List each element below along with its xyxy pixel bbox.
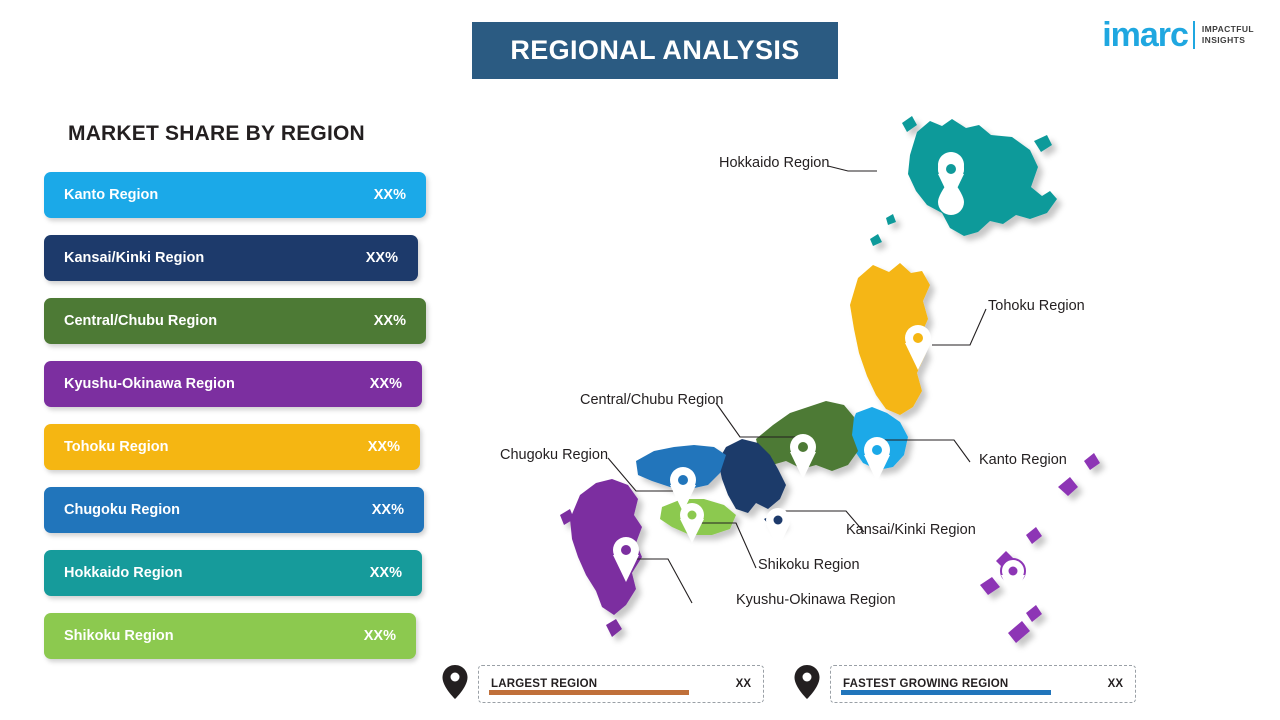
map-label-shikoku: Shikoku Region <box>758 557 860 573</box>
region-bar-value: XX% <box>368 439 400 455</box>
region-bar-tohoku[interactable]: Tohoku Region XX% <box>44 424 420 470</box>
region-bar-value: XX% <box>374 313 406 329</box>
list-item: Kanto Region XX% <box>44 172 426 218</box>
page-title: REGIONAL ANALYSIS <box>510 35 799 66</box>
map-region-hokkaido[interactable] <box>902 116 1057 236</box>
region-bar-label: Kyushu-Okinawa Region <box>64 376 235 392</box>
map-label-hokkaido: Hokkaido Region <box>719 155 829 171</box>
region-bar-label: Shikoku Region <box>64 628 174 644</box>
region-bar-label: Hokkaido Region <box>64 565 182 581</box>
slide-canvas: REGIONAL ANALYSIS imarc IMPACTFUL INSIGH… <box>0 0 1280 720</box>
fastest-region-pin-icon <box>794 665 820 699</box>
region-bar-label: Central/Chubu Region <box>64 313 217 329</box>
list-item: Central/Chubu Region XX% <box>44 298 426 344</box>
largest-region-value: XX <box>736 678 751 690</box>
pin-kansai[interactable] <box>766 508 790 549</box>
region-bar-value: XX% <box>372 502 404 518</box>
list-item: Chugoku Region XX% <box>44 487 426 533</box>
region-bar-value: XX% <box>370 376 402 392</box>
largest-region-box: LARGEST REGION XX <box>478 665 764 703</box>
region-bar-kanto[interactable]: Kanto Region XX% <box>44 172 426 218</box>
pin-kanto[interactable] <box>864 437 890 482</box>
region-bar-kyushu-okinawa[interactable]: Kyushu-Okinawa Region XX% <box>44 361 422 407</box>
pin-okinawa[interactable] <box>1001 559 1025 599</box>
list-item: Tohoku Region XX% <box>44 424 426 470</box>
market-share-bar-list: Kanto Region XX% Kansai/Kinki Region XX%… <box>44 172 426 676</box>
region-bar-label: Tohoku Region <box>64 439 168 455</box>
map-label-chugoku: Chugoku Region <box>500 447 608 463</box>
region-bar-chugoku[interactable]: Chugoku Region XX% <box>44 487 424 533</box>
region-bar-kansai[interactable]: Kansai/Kinki Region XX% <box>44 235 418 281</box>
largest-region-underline <box>489 690 689 695</box>
japan-map: Hokkaido Region Tohoku Region Kanto Regi… <box>430 95 1260 655</box>
fastest-region-underline <box>841 690 1051 695</box>
region-bar-label: Kansai/Kinki Region <box>64 250 204 266</box>
logo-tagline-line2: INSIGHTS <box>1202 35 1254 46</box>
list-item: Hokkaido Region XX% <box>44 550 426 596</box>
region-bar-shikoku[interactable]: Shikoku Region XX% <box>44 613 416 659</box>
region-bar-value: XX% <box>366 250 398 266</box>
region-bar-value: XX% <box>370 565 402 581</box>
fastest-region-box: FASTEST GROWING REGION XX <box>830 665 1136 703</box>
map-label-kansai: Kansai/Kinki Region <box>846 522 976 538</box>
region-bar-value: XX% <box>364 628 396 644</box>
map-island-hokkaido-small <box>870 214 896 246</box>
list-item: Shikoku Region XX% <box>44 613 426 659</box>
fastest-region-label: FASTEST GROWING REGION <box>843 678 1008 690</box>
logo-tagline-line1: IMPACTFUL <box>1202 24 1254 35</box>
page-title-banner: REGIONAL ANALYSIS <box>472 22 838 79</box>
largest-region-label: LARGEST REGION <box>491 678 597 690</box>
region-bar-label: Chugoku Region <box>64 502 180 518</box>
logo-divider <box>1193 21 1195 49</box>
region-bar-chubu[interactable]: Central/Chubu Region XX% <box>44 298 426 344</box>
market-share-heading: MARKET SHARE BY REGION <box>68 122 365 146</box>
pin-chubu[interactable] <box>790 434 816 479</box>
pin-shikoku[interactable] <box>680 503 704 543</box>
map-label-tohoku: Tohoku Region <box>988 298 1085 314</box>
logo-wordmark: imarc <box>1102 18 1188 52</box>
map-region-okinawa[interactable] <box>980 453 1100 643</box>
map-label-kyushu-okinawa: Kyushu-Okinawa Region <box>736 592 896 608</box>
map-label-chubu: Central/Chubu Region <box>580 392 723 408</box>
largest-region-pin-icon <box>442 665 468 699</box>
imarc-logo: imarc IMPACTFUL INSIGHTS <box>1102 16 1254 54</box>
list-item: Kyushu-Okinawa Region XX% <box>44 361 426 407</box>
region-bar-value: XX% <box>374 187 406 203</box>
fastest-region-value: XX <box>1108 678 1123 690</box>
list-item: Kansai/Kinki Region XX% <box>44 235 426 281</box>
map-label-kanto: Kanto Region <box>979 452 1067 468</box>
region-bar-hokkaido[interactable]: Hokkaido Region XX% <box>44 550 422 596</box>
logo-tagline: IMPACTFUL INSIGHTS <box>1202 24 1254 45</box>
region-bar-label: Kanto Region <box>64 187 158 203</box>
